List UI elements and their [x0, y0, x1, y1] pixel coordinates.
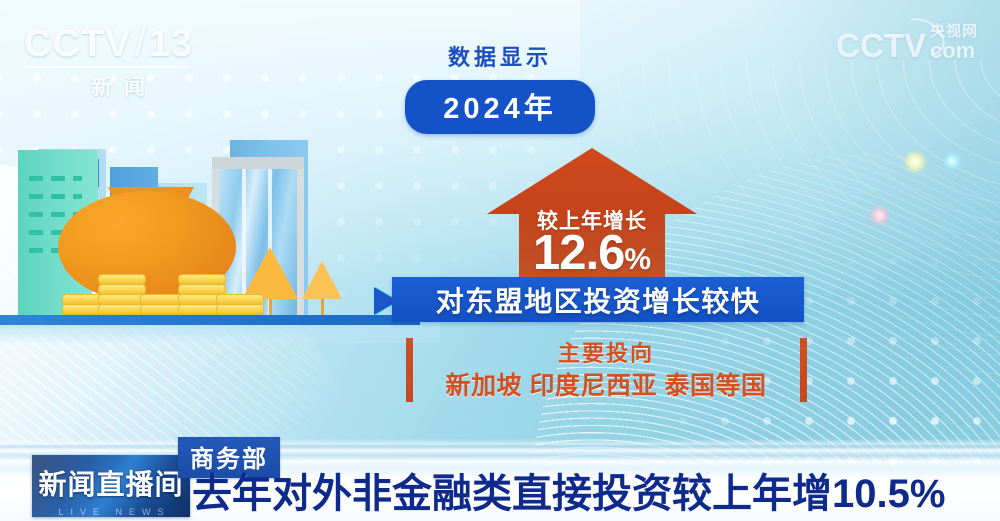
ground-bar: [0, 315, 420, 325]
program-logo: 新闻直播间 LIVE NEWS: [32, 455, 190, 517]
bokeh-dot-pink: [871, 207, 888, 224]
ground-shadow: [0, 323, 440, 343]
city-illustration: [0, 91, 400, 421]
program-logo-cn: 新闻直播间: [32, 463, 190, 503]
lower-third: 新闻直播间 LIVE NEWS 商务部 去年对外非金融类直接投资较上年增10.5…: [0, 439, 1000, 521]
news-headline: 去年对外非金融类直接投资较上年增10.5%: [192, 461, 945, 519]
broadcast-screenshot: CCTV / 13 新闻 CCTV 央视网 com 数据显示 2024年: [0, 0, 1000, 521]
detail-line-2: 新加坡 印度尼西亚 泰国等国: [400, 366, 812, 402]
growth-arrow-callout: 较上年增长 12.6%: [487, 148, 697, 283]
arrow-value-row: 12.6%: [487, 226, 697, 292]
header-subtitle: 数据显示: [0, 40, 1000, 72]
bokeh-dot-cyan: [943, 152, 961, 170]
detail-line-1: 主要投向: [400, 336, 812, 368]
arrow-value: 12.6: [533, 226, 624, 280]
arrow-unit: %: [624, 243, 651, 276]
gold-coin-stack-2: [98, 275, 146, 315]
program-logo-en: LIVE NEWS: [32, 507, 190, 517]
bokeh-dot-yellow: [905, 152, 925, 172]
tree-icon-small: [302, 261, 342, 315]
header-year-pill: 2024年: [405, 80, 595, 134]
gold-coin-stack-5: [216, 295, 264, 315]
detail-block: 主要投向 新加坡 印度尼西亚 泰国等国: [400, 334, 812, 406]
